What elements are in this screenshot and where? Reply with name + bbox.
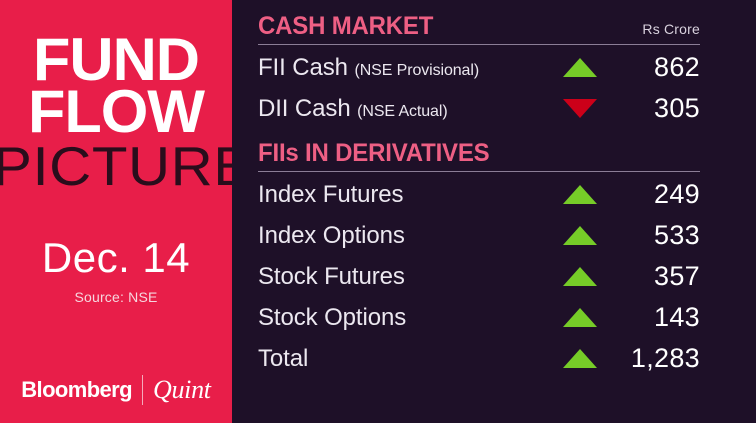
row-label-stock-futures: Stock Futures <box>258 263 552 291</box>
arrow-up-icon <box>552 349 608 368</box>
table-row: Stock Futures 357 <box>258 256 700 297</box>
logo-divider <box>142 375 143 405</box>
arrow-up-icon <box>552 58 608 77</box>
row-label-main: DII Cash <box>258 95 351 122</box>
arrow-up-icon <box>552 267 608 286</box>
title-line-picture: PICTURE <box>0 139 232 194</box>
fund-flow-infographic: FUND FLOW PICTURE Dec. 14 Source: NSE Bl… <box>0 0 756 423</box>
row-label-stock-options: Stock Options <box>258 304 552 332</box>
page-title: FUND FLOW PICTURE <box>0 34 232 194</box>
row-label-sub: (NSE Provisional) <box>354 62 479 79</box>
arrow-up-icon <box>552 308 608 327</box>
unit-label-rs-crore: Rs Crore <box>642 21 700 37</box>
bloomberg-quint-logo: Bloomberg Quint <box>0 375 232 405</box>
row-value-stock-options: 143 <box>608 302 700 333</box>
row-label-main: FII Cash <box>258 54 348 81</box>
row-value-index-options: 533 <box>608 220 700 251</box>
logo-bloomberg-text: Bloomberg <box>21 377 132 403</box>
row-label-index-options: Index Options <box>258 222 552 250</box>
table-row: Index Futures 249 <box>258 174 700 215</box>
section-header-cash-market: CASH MARKET Rs Crore <box>258 12 700 44</box>
section-divider-fiis-derivatives <box>258 171 700 172</box>
row-label-sub: (NSE Actual) <box>357 103 447 120</box>
table-row: FII Cash (NSE Provisional) 862 <box>258 47 700 88</box>
data-panel: CASH MARKET Rs Crore FII Cash (NSE Provi… <box>232 0 756 423</box>
arrow-up-icon <box>552 226 608 245</box>
arrow-down-icon <box>552 99 608 118</box>
section-header-fiis-derivatives: FIIs IN DERIVATIVES <box>258 139 700 171</box>
logo-quint-text: Quint <box>153 375 211 405</box>
row-value-dii-cash: 305 <box>608 93 700 124</box>
section-divider-cash-market <box>258 44 700 45</box>
table-row: DII Cash (NSE Actual) 305 <box>258 88 700 129</box>
row-value-index-futures: 249 <box>608 179 700 210</box>
row-label-index-futures: Index Futures <box>258 181 552 209</box>
source-label: Source: NSE <box>0 289 232 305</box>
date-label: Dec. 14 <box>0 234 232 282</box>
row-value-fii-cash: 862 <box>608 52 700 83</box>
row-label-fii-cash: FII Cash (NSE Provisional) <box>258 54 552 82</box>
row-label-dii-cash: DII Cash (NSE Actual) <box>258 95 552 123</box>
title-line-flow: FLOW <box>0 86 232 138</box>
section-title-cash-market: CASH MARKET <box>258 12 433 41</box>
row-label-total: Total <box>258 345 552 373</box>
row-value-total: 1,283 <box>608 343 700 374</box>
table-row: Index Options 533 <box>258 215 700 256</box>
section-title-fiis-derivatives: FIIs IN DERIVATIVES <box>258 139 490 168</box>
table-row: Total 1,283 <box>258 338 700 379</box>
row-value-stock-futures: 357 <box>608 261 700 292</box>
arrow-up-icon <box>552 185 608 204</box>
brand-panel: FUND FLOW PICTURE Dec. 14 Source: NSE Bl… <box>0 0 232 423</box>
table-row: Stock Options 143 <box>258 297 700 338</box>
